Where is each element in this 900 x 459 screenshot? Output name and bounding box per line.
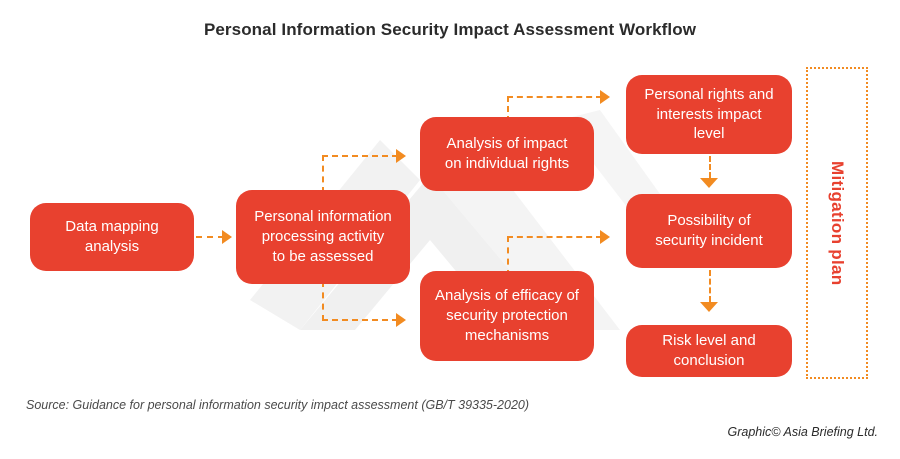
node-line: level bbox=[644, 124, 773, 144]
node-line: Possibility of bbox=[655, 211, 763, 231]
node-processing-activity[interactable]: Personal information processing activity… bbox=[236, 190, 410, 284]
node-analysis-individual-rights[interactable]: Analysis of impact on individual rights bbox=[420, 117, 594, 191]
node-line: Risk level and bbox=[662, 331, 755, 351]
node-line: Personal rights and bbox=[644, 85, 773, 105]
mitigation-plan-panel[interactable]: Mitigation plan bbox=[806, 67, 868, 379]
connector-processing-to-security-efficacy bbox=[322, 319, 398, 321]
connector-security-efficacy-up-stem bbox=[507, 236, 509, 276]
arrowhead-to-security-efficacy bbox=[396, 313, 406, 327]
node-line: security incident bbox=[655, 231, 763, 251]
source-note: Source: Guidance for personal informatio… bbox=[26, 398, 529, 412]
node-line: mechanisms bbox=[435, 326, 579, 346]
credit-note: Graphic© Asia Briefing Ltd. bbox=[728, 425, 878, 439]
connector-security-efficacy-to-possibility bbox=[507, 236, 602, 238]
node-possibility-security-incident[interactable]: Possibility of security incident bbox=[626, 194, 792, 268]
arrowhead-to-impact-level bbox=[600, 90, 610, 104]
arrowhead-to-possibility bbox=[600, 230, 610, 244]
node-line: Analysis of efficacy of bbox=[435, 286, 579, 306]
node-line: security protection bbox=[435, 306, 579, 326]
node-line: on individual rights bbox=[445, 154, 569, 174]
connector-data-mapping-to-processing bbox=[196, 236, 224, 238]
node-line: interests impact bbox=[644, 105, 773, 125]
node-rights-impact-level[interactable]: Personal rights and interests impact lev… bbox=[626, 75, 792, 154]
node-line: processing activity bbox=[254, 227, 392, 247]
page-title: Personal Information Security Impact Ass… bbox=[0, 20, 900, 40]
node-line: Personal information bbox=[254, 207, 392, 227]
node-line: Analysis of impact bbox=[445, 134, 569, 154]
infographic-canvas: Personal Information Security Impact Ass… bbox=[0, 0, 900, 459]
node-line: analysis bbox=[65, 237, 158, 257]
node-line: Data mapping bbox=[65, 217, 158, 237]
arrowhead-to-processing bbox=[222, 230, 232, 244]
connector-processing-up-stem bbox=[322, 155, 324, 193]
node-analysis-security-efficacy[interactable]: Analysis of efficacy of security protect… bbox=[420, 271, 594, 361]
arrowhead-to-individual-rights bbox=[396, 149, 406, 163]
connector-possibility-to-risk-level bbox=[709, 270, 711, 302]
arrowhead-to-risk-level bbox=[700, 302, 718, 312]
node-risk-level-conclusion[interactable]: Risk level and conclusion bbox=[626, 325, 792, 377]
connector-processing-down-stem bbox=[322, 281, 324, 321]
connector-impact-level-to-possibility bbox=[709, 156, 711, 178]
mitigation-plan-label: Mitigation plan bbox=[827, 161, 847, 285]
node-line: conclusion bbox=[662, 351, 755, 371]
connector-processing-to-individual-rights bbox=[322, 155, 398, 157]
node-line: to be assessed bbox=[254, 247, 392, 267]
connector-individual-rights-to-impact-level bbox=[507, 96, 602, 98]
node-data-mapping-analysis[interactable]: Data mapping analysis bbox=[30, 203, 194, 271]
arrowhead-to-possibility-vertical bbox=[700, 178, 718, 188]
